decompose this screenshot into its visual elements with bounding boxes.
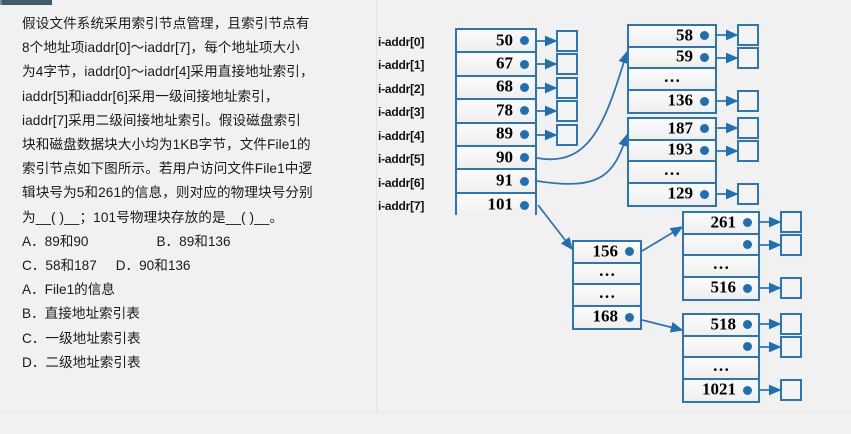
inode-value: 68	[496, 77, 513, 97]
data-block	[556, 77, 578, 99]
pointer-dot	[520, 153, 529, 162]
data-block	[737, 117, 759, 139]
answer-option[interactable]: A．File1的信息	[22, 278, 364, 302]
third-level-index-table-b: 518 … 1021	[682, 313, 760, 403]
inode-label-7: i-addr[7]	[378, 199, 424, 213]
inode-value: 91	[496, 171, 513, 191]
inode-value: 89	[496, 124, 513, 144]
pointer-dot	[700, 97, 709, 106]
answer-option[interactable]: A．89和90 B．89和136	[22, 230, 364, 254]
data-block	[556, 30, 578, 52]
data-block	[780, 211, 802, 233]
pointer-dot	[520, 60, 529, 69]
inode-value: 67	[496, 54, 513, 74]
ellipsis: …	[664, 160, 681, 180]
pointer-dot	[520, 130, 529, 139]
question-line: 为4字节，iaddr[0]～iaddr[4]采用直接地址索引，	[22, 60, 364, 84]
answer-option[interactable]: C．58和187 D．90和136	[22, 254, 364, 278]
inode-row[interactable]: 91	[457, 170, 535, 193]
inode-label-2: i-addr[2]	[378, 82, 424, 96]
inode-row[interactable]: 67	[457, 53, 535, 76]
question-line: 索引节点如下图所示。若用户访问文件File1中逻	[22, 157, 364, 181]
index-row-ellipsis: …	[629, 162, 715, 184]
pointer-dot	[743, 320, 752, 329]
ellipsis: …	[664, 67, 681, 87]
index-value: 1021	[702, 380, 736, 400]
index-row[interactable]: 261	[684, 213, 758, 235]
pointer-dot	[700, 190, 709, 199]
index-row-ellipsis: …	[684, 256, 758, 278]
index-row[interactable]: 129	[629, 184, 715, 206]
ellipsis: …	[599, 283, 616, 303]
inode-row[interactable]: 68	[457, 77, 535, 100]
question-line: 块和磁盘数据块大小均为1KB字节，文件File1的	[22, 133, 364, 157]
data-block	[556, 100, 578, 122]
answer-option[interactable]: C．一级地址索引表	[22, 327, 364, 351]
inode-row[interactable]: 101	[457, 194, 535, 217]
data-block	[737, 140, 759, 162]
question-line: iaddr[5]和iaddr[6]采用一级间接地址索引，	[22, 85, 364, 109]
answer-option[interactable]: D．二级地址索引表	[22, 351, 364, 375]
inode-label-0: i-addr[0]	[378, 35, 424, 49]
answer-option[interactable]: B．直接地址索引表	[22, 302, 364, 326]
inode-label-6: i-addr[6]	[378, 176, 424, 190]
question-line: 假设文件系统采用索引节点管理，且索引节点有	[22, 12, 364, 36]
index-value: 156	[593, 241, 619, 261]
pointer-dot	[700, 124, 709, 133]
index-value: 59	[676, 47, 693, 67]
ellipsis: …	[599, 261, 616, 281]
question-line: 辑块号为5和261的信息，则对应的物理块号分别	[22, 181, 364, 205]
index-value: 193	[668, 140, 694, 160]
data-block	[737, 24, 759, 46]
index-value: 168	[593, 307, 619, 327]
inode-value: 78	[496, 100, 513, 120]
first-level-index-table-b: 187 193 … 129	[627, 117, 717, 207]
inode-row[interactable]: 50	[457, 30, 535, 53]
inode-address-table: 50 67 68 78 89 90	[455, 28, 537, 215]
index-row[interactable]: 516	[684, 278, 758, 300]
index-row-ellipsis: …	[629, 69, 715, 91]
index-value: 136	[668, 91, 694, 111]
pointer-dot	[743, 240, 752, 249]
data-block	[737, 183, 759, 205]
ellipsis: …	[713, 356, 730, 376]
index-row-ellipsis: …	[574, 285, 640, 307]
inode-value: 101	[488, 195, 514, 215]
index-row[interactable]: 136	[629, 91, 715, 113]
second-level-index-table: 156 … … 168	[572, 240, 642, 330]
index-row[interactable]: 187	[629, 119, 715, 141]
page-root: 假设文件系统采用索引节点管理，且索引节点有 8个地址项iaddr[0]～iadd…	[0, 0, 851, 434]
toolbar-stub	[0, 0, 52, 5]
pointer-dot	[700, 53, 709, 62]
question-line: 为__( )__；101号物理块存放的是__( )__。	[22, 206, 364, 230]
pointer-dot	[625, 313, 634, 322]
index-value: 58	[676, 25, 693, 45]
inode-label-5: i-addr[5]	[378, 152, 424, 166]
horizontal-divider	[0, 412, 851, 413]
pointer-dot	[520, 106, 529, 115]
data-block	[737, 90, 759, 112]
data-block	[737, 47, 759, 69]
index-row-ellipsis: …	[684, 358, 758, 380]
third-level-index-table-a: 261 … 516	[682, 211, 760, 301]
index-row[interactable]: 168	[574, 307, 640, 329]
inode-label-1: i-addr[1]	[378, 58, 424, 72]
pointer-dot	[743, 386, 752, 395]
index-value: 516	[711, 278, 737, 298]
ellipsis: …	[713, 254, 730, 274]
inode-label-3: i-addr[3]	[378, 105, 424, 119]
index-value: 187	[668, 118, 694, 138]
pointer-dot	[520, 36, 529, 45]
inode-value: 50	[496, 30, 513, 50]
pointer-dot	[520, 177, 529, 186]
data-block	[780, 379, 802, 401]
index-row[interactable]: 518	[684, 315, 758, 337]
pointer-dot	[520, 83, 529, 92]
inode-value: 90	[496, 147, 513, 167]
index-row[interactable]: 58	[629, 26, 715, 48]
data-block	[780, 234, 802, 256]
inode-label-4: i-addr[4]	[378, 129, 424, 143]
question-line: iaddr[7]采用二级间接地址索引。假设磁盘索引	[22, 109, 364, 133]
index-value: 261	[711, 212, 737, 232]
pointer-dot	[700, 146, 709, 155]
pointer-dot	[743, 342, 752, 351]
pointer-dot	[625, 247, 634, 256]
data-block	[556, 124, 578, 146]
data-block	[780, 277, 802, 299]
pointer-dot	[520, 201, 529, 210]
index-value: 129	[668, 184, 694, 204]
pointer-dot	[743, 218, 752, 227]
question-panel: 假设文件系统采用索引节点管理，且索引节点有 8个地址项iaddr[0]～iadd…	[22, 12, 364, 375]
data-block	[556, 53, 578, 75]
inode-row[interactable]: 78	[457, 100, 535, 123]
inode-diagram: i-addr[0] i-addr[1] i-addr[2] i-addr[3] …	[376, 0, 851, 412]
data-block	[780, 313, 802, 335]
index-row[interactable]: 1021	[684, 380, 758, 402]
inode-row[interactable]: 89	[457, 124, 535, 147]
data-block	[780, 336, 802, 358]
pointer-dot	[700, 31, 709, 40]
question-line: 8个地址项iaddr[0]～iaddr[7]，每个地址项大小	[22, 36, 364, 60]
pointer-dot	[743, 284, 752, 293]
inode-row[interactable]: 90	[457, 147, 535, 170]
index-value: 518	[711, 314, 737, 334]
first-level-index-table-a: 58 59 … 136	[627, 24, 717, 114]
